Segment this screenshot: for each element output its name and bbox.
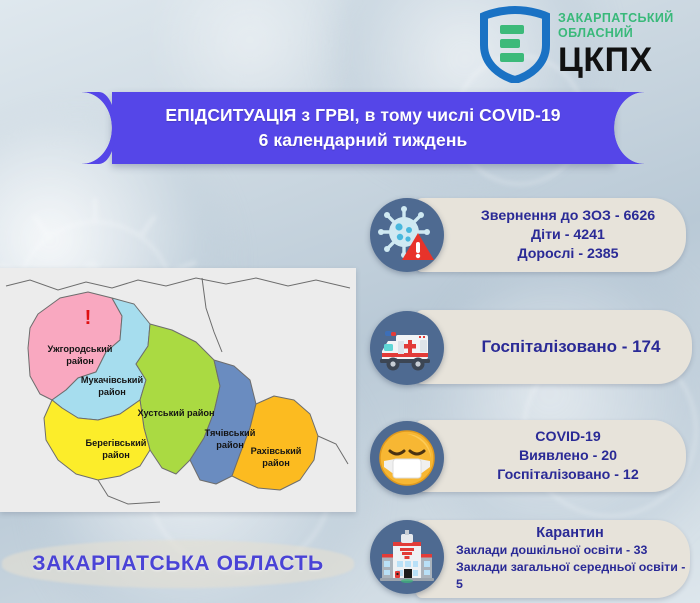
stat-line: Госпіталізовано - 12 xyxy=(450,466,686,485)
map-svg: ! Ужгородський район Мукачівський район … xyxy=(0,268,356,512)
stat-line: Діти - 4241 xyxy=(450,226,686,245)
region-caption: ЗАКАРПАТСЬКА ОБЛАСТЬ xyxy=(28,544,328,584)
map-label-rakhivskyi: Рахівський xyxy=(251,446,302,456)
stat-line: COVID-19 xyxy=(450,428,686,447)
title-line-2: 6 календарний тиждень xyxy=(259,128,468,153)
ribbon-left-notch xyxy=(82,92,116,164)
stat-line: Дорослі - 2385 xyxy=(450,245,686,264)
logo-text-block: ЗАКАРПАТСЬКИЙ ОБЛАСНИЙ ЦКПХ xyxy=(558,11,674,78)
title-line-1: ЕПІДСИТУАЦІЯ з ГРВІ, в тому числі COVID-… xyxy=(165,103,560,128)
map-label-khustskyi: Хустський район xyxy=(137,408,214,418)
stat-line: Виявлено - 20 xyxy=(450,447,686,466)
stat-card-pill: COVID-19 Виявлено - 20 Госпіталізовано -… xyxy=(416,420,686,492)
map-label-uzhhorodskyi: Ужгородський xyxy=(48,344,113,354)
stat-card-text: Карантин Заклади дошкільної освіти - 33 … xyxy=(416,525,690,593)
stat-line: Госпіталізовано - 174 xyxy=(450,336,692,358)
stat-card-appeals[interactable]: Звернення до ЗОЗ - 6626 Діти - 4241 Доро… xyxy=(370,190,700,280)
stat-line: Заклади загальної середньої освіти - 5 xyxy=(450,559,690,593)
stat-card-text: Звернення до ЗОЗ - 6626 Діти - 4241 Доро… xyxy=(416,207,686,264)
map-label-rakhivskyi-2: район xyxy=(262,458,290,468)
stat-card-quarantine[interactable]: Карантин Заклади дошкільної освіти - 33 … xyxy=(370,512,700,602)
map-label-tiachivskyi-2: район xyxy=(216,440,244,450)
map-label-uzhhorodskyi-2: район xyxy=(66,356,94,366)
zakarpattia-district-map: ! Ужгородський район Мукачівський район … xyxy=(0,268,356,512)
stat-line: Заклади дошкільної освіти - 33 xyxy=(450,542,690,559)
logo-line-1: ЗАКАРПАТСЬКИЙ xyxy=(558,11,674,26)
stat-card-text: Госпіталізовано - 174 xyxy=(416,336,692,358)
logo-line-2: ОБЛАСНИЙ xyxy=(558,26,674,41)
map-label-mukachivskyi-2: район xyxy=(98,387,126,397)
map-label-mukachivskyi: Мукачівський xyxy=(81,375,144,385)
stat-line: Звернення до ЗОЗ - 6626 xyxy=(450,207,686,226)
map-label-berehivskyi: Берегівський xyxy=(86,438,147,448)
stat-card-hospitalized[interactable]: Госпіталізовано - 174 xyxy=(370,302,700,394)
map-label-berehivskyi-2: район xyxy=(102,450,130,460)
region-caption-label: ЗАКАРПАТСЬКА ОБЛАСТЬ xyxy=(32,552,323,576)
stat-card-pill: Звернення до ЗОЗ - 6626 Діти - 4241 Доро… xyxy=(416,198,686,272)
title-banner: ЕПІДСИТУАЦІЯ з ГРВІ, в тому числі COVID-… xyxy=(112,92,614,164)
stat-card-pill: Госпіталізовано - 174 xyxy=(416,310,692,384)
stat-card-covid[interactable]: COVID-19 Виявлено - 20 Госпіталізовано -… xyxy=(370,412,700,504)
logo-abbreviation: ЦКПХ xyxy=(558,42,674,78)
stat-line: Карантин xyxy=(450,525,690,542)
organization-logo: ЗАКАРПАТСЬКИЙ ОБЛАСНИЙ ЦКПХ xyxy=(476,2,698,86)
shield-leaf-icon xyxy=(476,5,554,83)
map-label-tiachivskyi: Тячівський xyxy=(205,428,256,438)
ribbon-right-notch xyxy=(610,92,644,164)
alert-exclamation-marker: ! xyxy=(85,307,92,329)
stat-card-text: COVID-19 Виявлено - 20 Госпіталізовано -… xyxy=(416,428,686,485)
stat-card-pill: Карантин Заклади дошкільної освіти - 33 … xyxy=(416,520,690,598)
